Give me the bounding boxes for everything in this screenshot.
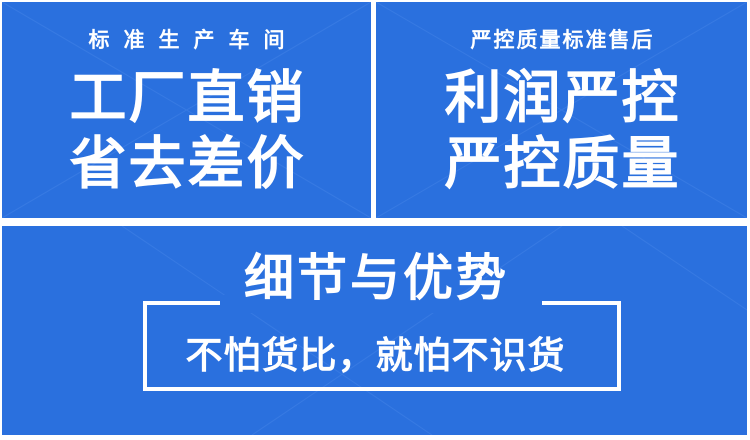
details-title: 细节与优势 [0, 253, 750, 303]
panel-eyebrow-right: 严控质量标准售后 [469, 30, 655, 51]
panel-quality-control: 严控质量标准售后 利润严控 严控质量 [376, 2, 747, 218]
panel-headline-right-line2: 严控质量 [443, 135, 681, 195]
promo-banner: 标准生产车间 工厂直销 省去差价 严控质量标准售后 利润严控 严控质量 [0, 0, 750, 440]
panel-headline-left-line1: 工厂直销 [68, 69, 306, 129]
panel-headline-left-line2: 省去差价 [68, 135, 306, 195]
panel-factory-direct: 标准生产车间 工厂直销 省去差价 [2, 2, 371, 218]
details-subtitle: 不怕货比，就怕不识货 [0, 337, 750, 374]
panel-headline-right-line1: 利润严控 [443, 69, 681, 129]
top-panel-row: 标准生产车间 工厂直销 省去差价 严控质量标准售后 利润严控 严控质量 [2, 2, 747, 218]
panel-eyebrow-left: 标准生产车间 [75, 30, 299, 51]
